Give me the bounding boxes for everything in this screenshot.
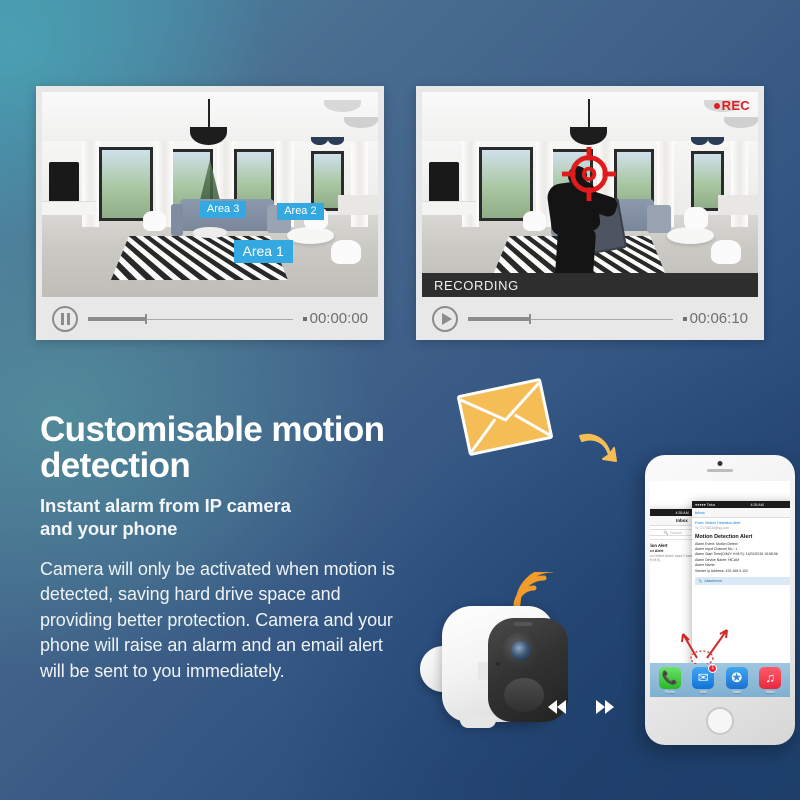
camera-ir-strip — [514, 622, 532, 626]
dock-app-label: Music — [759, 690, 781, 694]
play-button[interactable] — [432, 306, 458, 332]
chair — [684, 207, 708, 230]
envelope-icon — [456, 378, 553, 457]
mail-icon: ✉ 1 — [692, 667, 714, 689]
armchair — [647, 205, 671, 234]
ip-camera-device — [420, 600, 580, 735]
seek-bar[interactable] — [468, 314, 673, 324]
timecode: 00:00:00 — [303, 310, 368, 327]
area-tag-3[interactable]: Area 3 — [200, 201, 246, 218]
mail-attachment[interactable]: 📎 Attachment — [695, 577, 790, 585]
video-frame-idle[interactable]: Area 3 Area 2 Area 1 — [42, 92, 378, 297]
back-to-inbox-button[interactable]: Inbox — [695, 510, 705, 515]
area-tag-1[interactable]: Area 1 — [234, 240, 293, 263]
recording-status-bar: RECORDING — [422, 273, 758, 297]
inbox-title: Inbox — [676, 518, 688, 523]
dock-app-safari[interactable]: ✪ Safari — [726, 667, 748, 694]
mail-header: From: Motion Detection Alert To: 2174624… — [692, 518, 790, 531]
seek-handle[interactable] — [145, 314, 147, 324]
page-title: Customisable motion detection — [40, 412, 400, 483]
seek-progress — [88, 317, 145, 321]
stop-icon — [303, 317, 307, 321]
status-carrier: ●●●●● Telus — [695, 503, 715, 507]
front-camera-icon — [718, 461, 723, 466]
dock-app-music[interactable]: ♫ Music — [759, 667, 781, 694]
attachment-label: Attachment — [704, 579, 722, 583]
window — [99, 147, 153, 221]
seek-controls[interactable] — [548, 700, 614, 714]
side-table — [667, 227, 714, 243]
rec-indicator: REC — [714, 98, 750, 113]
seek-progress — [468, 317, 529, 321]
chair — [143, 211, 167, 232]
paperclip-icon: 📎 — [698, 579, 702, 583]
detail-line: Sender ip Address: 192.168.0.102 — [695, 569, 790, 574]
timecode-text: 00:00:00 — [310, 310, 368, 327]
music-note-icon: ♫ — [759, 667, 781, 689]
play-icon — [442, 313, 452, 325]
area-tag-2[interactable]: Area 2 — [277, 203, 323, 220]
iphone-device: ●●●●● Telus 4:35 AM ▮ Mailboxes Inbox 🔍 … — [645, 455, 795, 745]
camera-body — [442, 606, 554, 722]
camera-lens-ring — [502, 632, 540, 670]
camera-foot — [460, 716, 496, 728]
player-controls-idle[interactable]: 00:00:00 — [42, 297, 378, 340]
side-table — [287, 227, 334, 243]
status-time: 4:35 AM — [751, 503, 764, 507]
video-panel-idle[interactable]: Area 3 Area 2 Area 1 00:00:00 — [36, 86, 384, 340]
home-button[interactable] — [706, 707, 734, 735]
timecode-text: 00:06:10 — [690, 310, 748, 327]
search-placeholder: Search — [670, 531, 682, 535]
chair — [711, 240, 741, 265]
mail-to-line: To: 21746244@qq.com — [695, 526, 790, 530]
pause-button[interactable] — [52, 306, 78, 332]
phone-icon: 📞 — [659, 667, 681, 689]
rewind-icon[interactable] — [548, 700, 566, 714]
status-time: 4:35 AM — [676, 511, 689, 515]
window — [479, 147, 533, 221]
dining-area — [718, 195, 758, 216]
ios-status-bar: ●●●●● Telus 4:35 AM ▮ — [692, 501, 790, 508]
mail-badge: 1 — [708, 664, 717, 673]
timecode: 00:06:10 — [683, 310, 748, 327]
detail-line: Alarm Start Time(D/M/Y H:M:S): 14/02/201… — [695, 552, 790, 557]
recording-status-text: RECORDING — [434, 278, 519, 293]
sideboard — [422, 201, 476, 215]
subheading: Instant alarm from IP camera and your ph… — [40, 495, 400, 540]
stop-icon — [683, 317, 687, 321]
dock-app-mail[interactable]: ✉ 1 Mail — [692, 667, 714, 694]
dock-app-label: Safari — [726, 690, 748, 694]
ios-dock[interactable]: 📞 Phone ✉ 1 Mail ✪ Safari ♫ Music — [650, 663, 790, 697]
mail-detail-body: Alarm Event: Motion Detect Alarm Input C… — [692, 542, 790, 575]
compass-icon: ✪ — [726, 667, 748, 689]
video-panel-recording[interactable]: REC RECORDING 00:06:10 — [416, 86, 764, 340]
dock-app-label: Phone — [659, 690, 681, 694]
wall-tv — [429, 162, 459, 203]
target-crosshair-icon — [560, 145, 618, 203]
seek-bar[interactable] — [88, 314, 293, 324]
subheading-line-2: and your phone — [40, 518, 400, 541]
mail-from-line: From: Motion Detection Alert — [695, 521, 790, 525]
mail-detail-title: Motion Detection Alert — [692, 531, 790, 542]
search-icon: 🔍 — [664, 530, 669, 535]
player-controls-recording[interactable]: 00:06:10 — [422, 297, 758, 340]
rec-label: REC — [722, 98, 750, 113]
pause-icon — [61, 313, 70, 325]
camera-led — [496, 662, 500, 666]
video-frame-recording[interactable]: REC RECORDING — [422, 92, 758, 297]
sideboard — [42, 201, 96, 215]
camera-speaker-button[interactable] — [504, 678, 544, 712]
dock-app-phone[interactable]: 📞 Phone — [659, 667, 681, 694]
wall-tv — [49, 162, 79, 203]
curved-arrow-icon — [576, 428, 618, 468]
rec-dot-icon — [714, 103, 720, 109]
coffee-table — [193, 227, 227, 237]
subheading-line-1: Instant alarm from IP camera — [40, 495, 400, 518]
chair — [331, 240, 361, 265]
camera-lens — [511, 641, 531, 661]
seek-handle[interactable] — [529, 314, 531, 324]
envelope-flap — [456, 378, 553, 457]
fast-forward-icon[interactable] — [596, 700, 614, 714]
living-room-scene — [42, 92, 378, 297]
earpiece-speaker — [707, 469, 733, 472]
dining-area — [338, 195, 378, 216]
marketing-copy: Customisable motion detection Instant al… — [40, 412, 400, 684]
dock-app-label: Mail — [692, 690, 714, 694]
mail-detail-nav-bar[interactable]: Inbox ▲ ▼ — [692, 508, 790, 518]
body-paragraph: Camera will only be activated when motio… — [40, 557, 400, 685]
